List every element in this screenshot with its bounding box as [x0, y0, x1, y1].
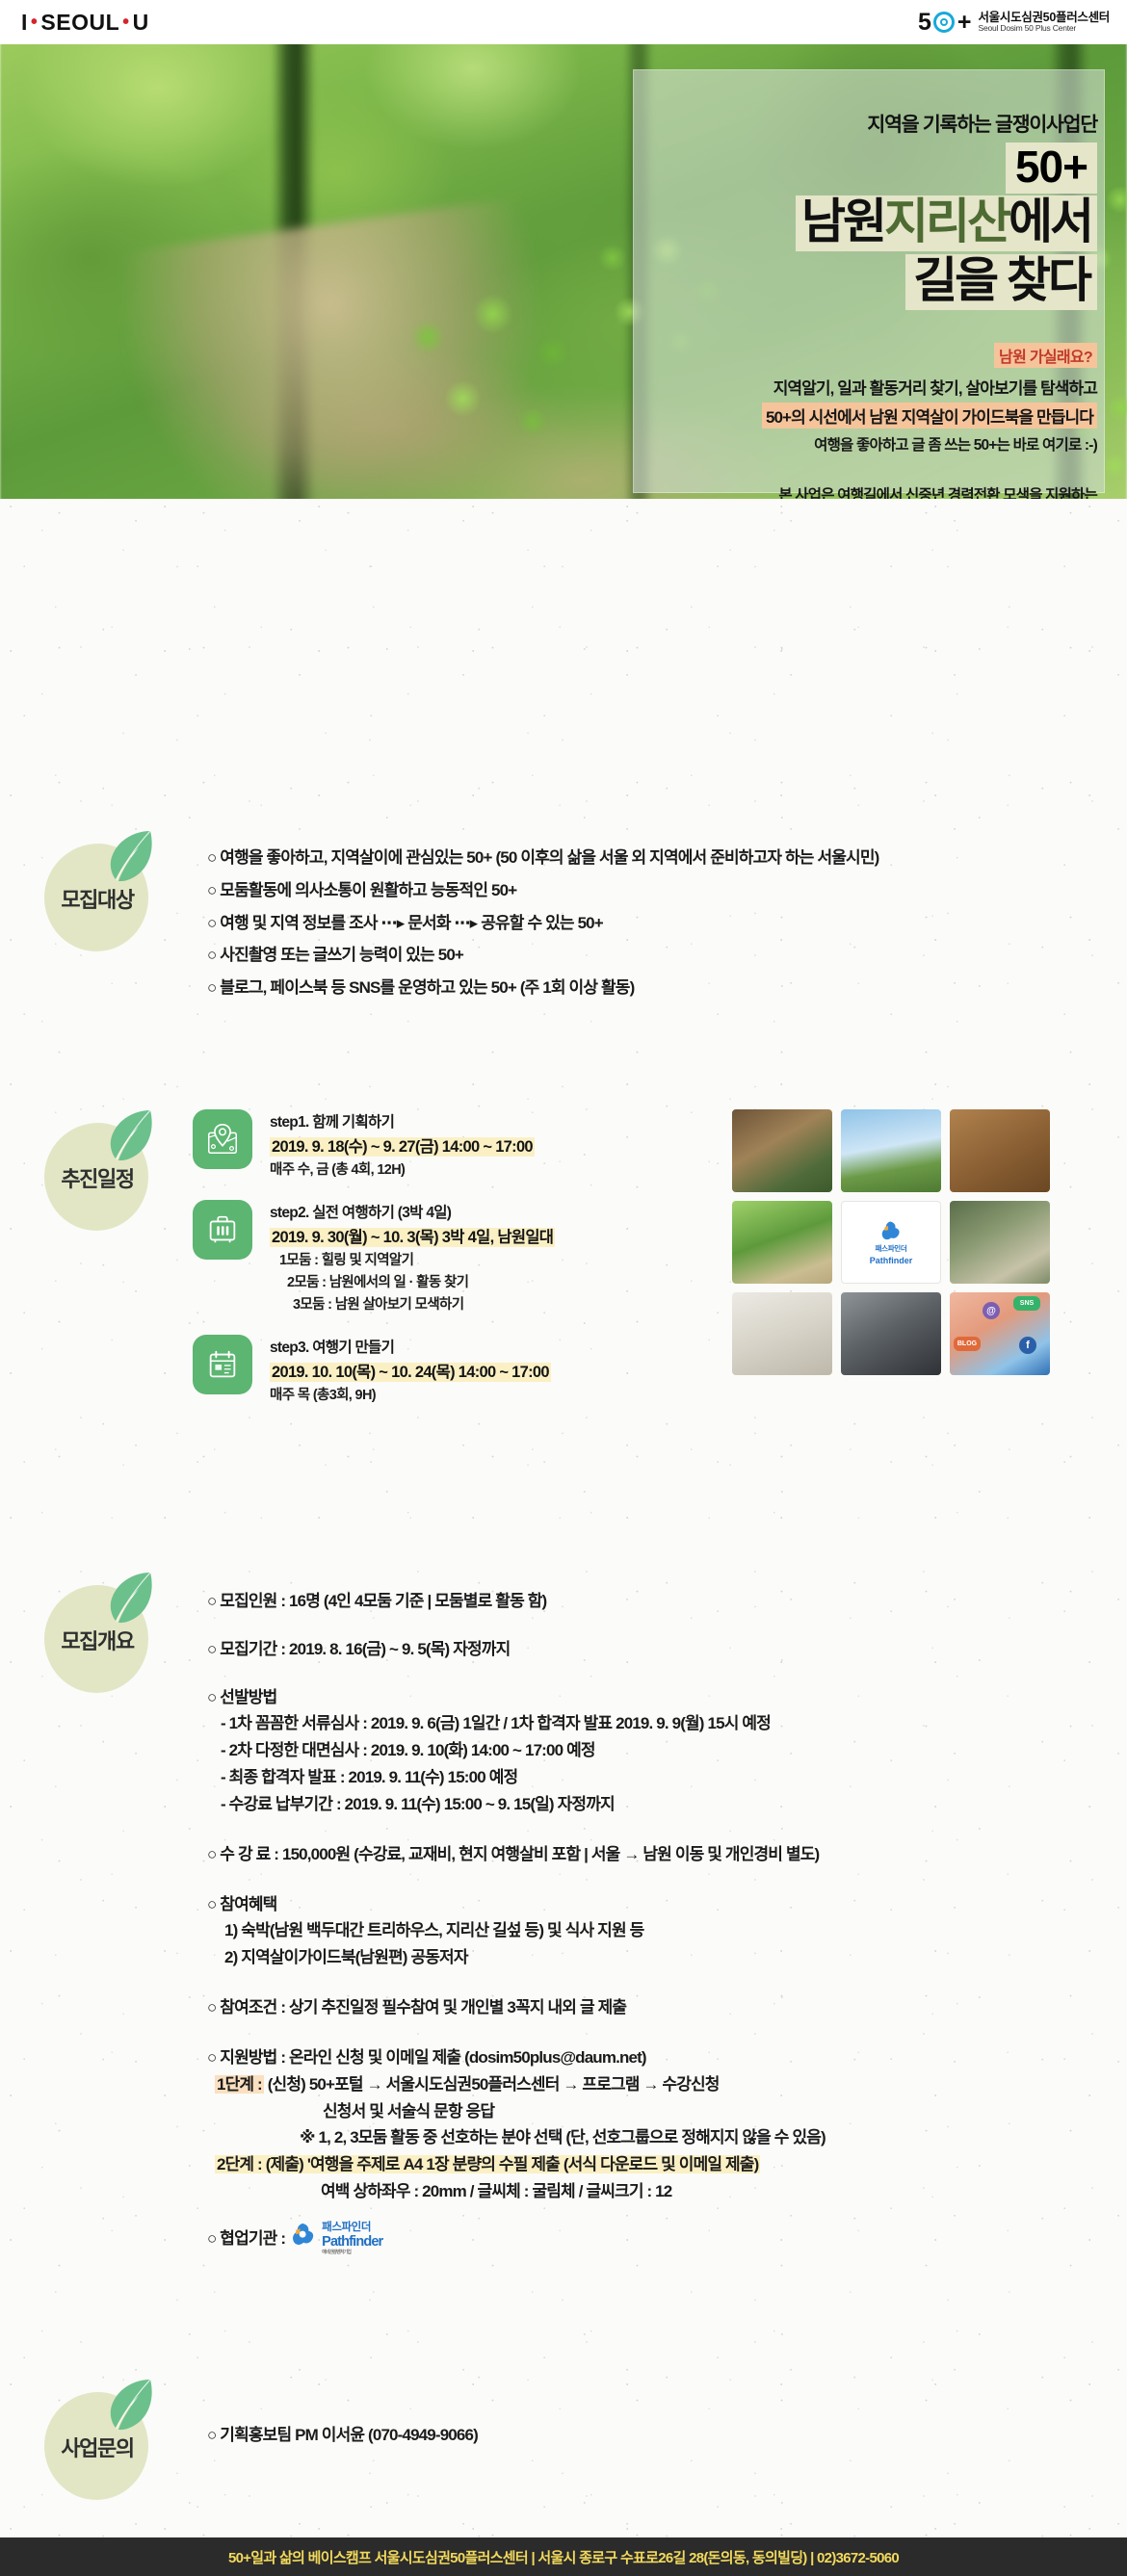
photo-trail-sign	[732, 1109, 832, 1192]
apply-stage-1-sub: 신청서 및 서술식 문항 응답	[207, 2099, 1122, 2124]
hero-banner: 지역을 기록하는 글쟁이사업단 50+ 남원지리산에서 길을 찾다 남원 가실래…	[0, 31, 1127, 503]
overview-list: ○ 모집인원 : 16명 (4인 4모둠 기준 | 모둠별로 활동 함) ○ 모…	[207, 1589, 1122, 2256]
apply-stage-1-text: (신청) 50+포털 → 서울시도심권50플러스센터 → 프로그램 → 수강신청	[268, 2075, 720, 2094]
logo-letter-i: I	[21, 10, 28, 36]
overview-benefits-head: ○ 참여혜택	[207, 1892, 1122, 1917]
contact-line: ○ 기획홍보팀 PM 이서윤 (070-4949-9066)	[207, 2423, 1122, 2448]
apply-stage-2-wrap: 2단계 : (제출) '여행을 주제로 A4 1장 분량의 수필 제출 (서식 …	[207, 2152, 1122, 2177]
center-name-block: 서울시도심권50플러스센터 Seoul Dosim 50 Plus Center	[978, 11, 1110, 34]
photo-notebook-pen	[732, 1292, 832, 1375]
badge-contact-label: 사업문의	[39, 2379, 154, 2506]
schedule-step-3: step3. 여행기 만들기 2019. 10. 10(목) ~ 10. 24(…	[193, 1335, 694, 1404]
contact-body: ○ 기획홍보팀 PM 이서윤 (070-4949-9066)	[207, 2423, 1122, 2456]
apply-stage-1: 1단계 : (신청) 50+포털 → 서울시도심권50플러스센터 → 프로그램 …	[207, 2072, 1122, 2097]
badge-contact: 사업문의	[39, 2379, 154, 2506]
step-3-date-wrap: 2019. 10. 10(목) ~ 10. 24(목) 14:00 ~ 17:0…	[270, 1359, 551, 1382]
step-2-sub-3: 3모둠 : 남원 살아보기 모색하기	[270, 1293, 555, 1314]
step-3-date: 2019. 10. 10(목) ~ 10. 24(목) 14:00 ~ 17:0…	[270, 1363, 551, 1382]
partner-name-en: Pathfinder	[322, 2234, 382, 2250]
suitcase-icon	[193, 1200, 252, 1260]
partner-name-kr: 패스파인더	[322, 2222, 382, 2234]
hero-fifty-plus-badge: 50+	[1006, 143, 1097, 194]
schedule-step-1-text: step1. 함께 기획하기 2019. 9. 18(수) ~ 9. 27(금)…	[270, 1109, 535, 1179]
logo-dot-left: •	[31, 13, 39, 32]
step-2-date-wrap: 2019. 9. 30(월) ~ 10. 3(목) 3박 4일, 남원일대	[270, 1224, 555, 1247]
step-1-date: 2019. 9. 18(수) ~ 9. 27(금) 14:00 ~ 17:00	[270, 1137, 535, 1157]
target-item-2: ○ 모둠활동에 의사소통이 원활하고 능동적인 50+	[207, 878, 1122, 903]
apply-head: ○ 지원방법 : 온라인 신청 및 이메일 제출 (dosim50plus@da…	[207, 2045, 1122, 2070]
target-item-5: ○ 블로그, 페이스북 등 SNS를 운영하고 있는 50+ (주 1회 이상 …	[207, 976, 1122, 1001]
step-2-title: step2. 실전 여행하기 (3박 4일)	[270, 1201, 555, 1222]
center-name-kr: 서울시도심권50플러스센터	[978, 11, 1110, 24]
partner-label: ○ 협업기관 :	[207, 2226, 285, 2251]
schedule-step-1: step1. 함께 기획하기 2019. 9. 18(수) ~ 9. 27(금)…	[193, 1109, 694, 1179]
sns-blog-badge: BLOG	[954, 1337, 981, 1351]
hero-text-block: 지역을 기록하는 글쟁이사업단 50+ 남원지리산에서 길을 찾다 남원 가실래…	[633, 69, 1111, 503]
badge-schedule-label: 추진일정	[39, 1109, 154, 1236]
overview-period: ○ 모집기간 : 2019. 8. 16(금) ~ 9. 5(목) 자정까지	[207, 1637, 1122, 1662]
hero-desc-2: 50+의 시선에서 남원 지역살이 가이드북을 만듭니다	[762, 403, 1097, 429]
pathfinder-mark-icon	[291, 2222, 316, 2256]
overview-selection-1: - 1차 꼼꼼한 서류심사 : 2019. 9. 6(금) 1일간 / 1차 합…	[207, 1711, 1122, 1736]
hero-title-namwon: 남원	[801, 195, 884, 248]
partner-logo-inline: 패스파인더 Pathfinder 예비관광벤처기업	[291, 2222, 382, 2256]
badge-overview-label: 모집개요	[39, 1572, 154, 1699]
hero-desc-2-wrap: 50+의 시선에서 남원 지역살이 가이드북을 만듭니다	[644, 403, 1097, 429]
apply-note: ※ 1, 2, 3모둠 활동 중 선호하는 분야 선택 (단, 선호그룹으로 정…	[207, 2125, 1122, 2150]
apply-stage-2-sub: 여백 상하좌우 : 20mm / 글씨체 : 굴림체 / 글씨크기 : 12	[207, 2179, 1122, 2204]
hero-desc-1: 지역알기, 일과 활동거리 찾기, 살아보기를 탐색하고	[644, 375, 1097, 399]
target-item-3: ○ 여행 및 지역 정보를 조사 ⋯▸ 문서화 ⋯▸ 공유할 수 있는 50+	[207, 911, 1122, 936]
footer-text: 50+일과 삶의 베이스캠프 서울시도심권50플러스센터 | 서울시 종로구 수…	[228, 2547, 899, 2567]
overview-benefit-2: 2) 지역살이가이드북(남원편) 공동저자	[207, 1945, 1122, 1970]
sns-at-badge: @	[983, 1302, 1000, 1319]
mark-digit-five: 5	[918, 11, 931, 35]
partner-subtitle: 예비관광벤처기업	[322, 2251, 382, 2256]
photo-suitcase	[950, 1109, 1050, 1192]
step-3-sub-1: 매주 목 (총3회, 9H)	[270, 1384, 551, 1404]
logo-letter-u: U	[133, 10, 149, 36]
overview-selection-head: ○ 선발방법	[207, 1685, 1122, 1710]
center-name-en: Seoul Dosim 50 Plus Center	[978, 24, 1110, 34]
overview-conditions: ○ 참여조건 : 상기 추진일정 필수참여 및 개인별 3꼭지 내외 글 제출	[207, 1995, 1122, 2020]
step-3-title: step3. 여행기 만들기	[270, 1336, 551, 1357]
target-item-4: ○ 사진촬영 또는 글쓰기 능력이 있는 50+	[207, 943, 1122, 968]
apply-stage-1-label: 1단계 :	[215, 2075, 264, 2094]
step-1-date-wrap: 2019. 9. 18(수) ~ 9. 27(금) 14:00 ~ 17:00	[270, 1133, 535, 1157]
badge-overview: 모집개요	[39, 1572, 154, 1699]
i-seoul-u-logo: I • SEOUL • U	[21, 10, 149, 36]
poster-page: I • SEOUL • U 5 + 서울시도심권50플러스센터 Seoul Do…	[0, 0, 1127, 2576]
partner-row: ○ 협업기관 : 패스파인더 Pathfinder 예비관광벤처기업	[207, 2222, 1122, 2256]
badge-target: 모집대상	[39, 830, 154, 957]
fifty-plus-mark-icon: 5 +	[918, 11, 972, 35]
hero-divider	[0, 499, 1127, 503]
hero-title-find-road: 길을 찾다	[905, 254, 1097, 310]
badge-target-label: 모집대상	[39, 830, 154, 957]
grid-pathfinder-en: Pathfinder	[870, 1256, 913, 1265]
overview-headcount: ○ 모집인원 : 16명 (4인 4모둠 기준 | 모둠별로 활동 함)	[207, 1589, 1122, 1614]
step-2-date: 2019. 9. 30(월) ~ 10. 3(목) 3박 4일, 남원일대	[270, 1228, 555, 1247]
photo-laptop	[841, 1292, 941, 1375]
footer-bar: 50+일과 삶의 베이스캠프 서울시도심권50플러스센터 | 서울시 종로구 수…	[0, 2537, 1127, 2576]
schedule-step-3-text: step3. 여행기 만들기 2019. 10. 10(목) ~ 10. 24(…	[270, 1335, 551, 1404]
sns-sns-badge: SNS	[1013, 1296, 1040, 1311]
hero-title-jirisan: 지리산	[884, 195, 1009, 248]
center-logo: 5 + 서울시도심권50플러스센터 Seoul Dosim 50 Plus Ce…	[918, 11, 1110, 35]
overview-benefit-1: 1) 숙박(남원 백두대간 트리하우스, 지리산 길섶 등) 및 식사 지원 등	[207, 1918, 1122, 1943]
overview-selection-4: - 수강료 납부기간 : 2019. 9. 11(수) 15:00 ~ 9. 1…	[207, 1792, 1122, 1817]
schedule-steps: step1. 함께 기획하기 2019. 9. 18(수) ~ 9. 27(금)…	[193, 1109, 694, 1425]
step-1-sub-1: 매주 수, 금 (총 4회, 12H)	[270, 1158, 535, 1179]
sns-facebook-badge: f	[1019, 1337, 1036, 1354]
step-2-sub-1: 1모둠 : 힐링 및 지역알기	[270, 1249, 555, 1269]
mark-plus-sign: +	[957, 11, 972, 35]
badge-schedule: 추진일정	[39, 1109, 154, 1236]
hero-title-eseo: 에서	[1009, 195, 1091, 248]
photo-camper-van	[950, 1201, 1050, 1284]
step-1-title: step1. 함께 기획하기	[270, 1110, 535, 1132]
schedule-photo-grid: 패스파인더 Pathfinder BLOG SNS @ f	[732, 1109, 1050, 1375]
top-brand-bar: I • SEOUL • U 5 + 서울시도심권50플러스센터 Seoul Do…	[0, 0, 1127, 44]
grid-pathfinder-kr: 패스파인더	[876, 1243, 907, 1254]
map-pin-icon	[193, 1109, 252, 1169]
apply-stage-2: 2단계 : (제출) '여행을 주제로 A4 1장 분량의 수필 제출 (서식 …	[215, 2155, 760, 2173]
schedule-step-2: step2. 실전 여행하기 (3박 4일) 2019. 9. 30(월) ~ …	[193, 1200, 694, 1314]
photo-bench-sky	[841, 1109, 941, 1192]
target-item-1: ○ 여행을 좋아하고, 지역살이에 관심있는 50+ (50 이후의 삶을 서울…	[207, 846, 1122, 871]
schedule-step-2-text: step2. 실전 여행하기 (3박 4일) 2019. 9. 30(월) ~ …	[270, 1200, 555, 1314]
logo-word-seoul: SEOUL	[40, 10, 119, 36]
hero-title-line-1: 남원지리산에서	[644, 195, 1097, 251]
hero-title-line-2: 길을 찾다	[644, 254, 1097, 310]
overview-selection-3: - 최종 합격자 발표 : 2019. 9. 11(수) 15:00 예정	[207, 1765, 1122, 1790]
hero-red-question: 남원 가실래요?	[994, 343, 1097, 368]
photo-forest-road	[732, 1201, 832, 1284]
mark-ring-icon	[933, 12, 955, 33]
calendar-book-icon	[193, 1335, 252, 1394]
hero-kicker: 지역을 기록하는 글쟁이사업단	[644, 108, 1097, 137]
photo-pathfinder-logo: 패스파인더 Pathfinder	[841, 1201, 941, 1284]
photo-sns-hand: BLOG SNS @ f	[950, 1292, 1050, 1375]
step-2-sub-2: 2모둠 : 남원에서의 일 · 활동 찾기	[270, 1271, 555, 1291]
hero-desc-3: 여행을 좋아하고 글 좀 쓰는 50+는 바로 여기로 :-)	[644, 433, 1097, 455]
overview-fee: ○ 수 강 료 : 150,000원 (수강료, 교재비, 현지 여행살비 포함…	[207, 1842, 1122, 1867]
logo-dot-right: •	[122, 13, 130, 32]
target-list: ○ 여행을 좋아하고, 지역살이에 관심있는 50+ (50 이후의 삶을 서울…	[207, 846, 1122, 1008]
overview-selection-2: - 2차 다정한 대면심사 : 2019. 9. 10(화) 14:00 ~ 1…	[207, 1738, 1122, 1763]
